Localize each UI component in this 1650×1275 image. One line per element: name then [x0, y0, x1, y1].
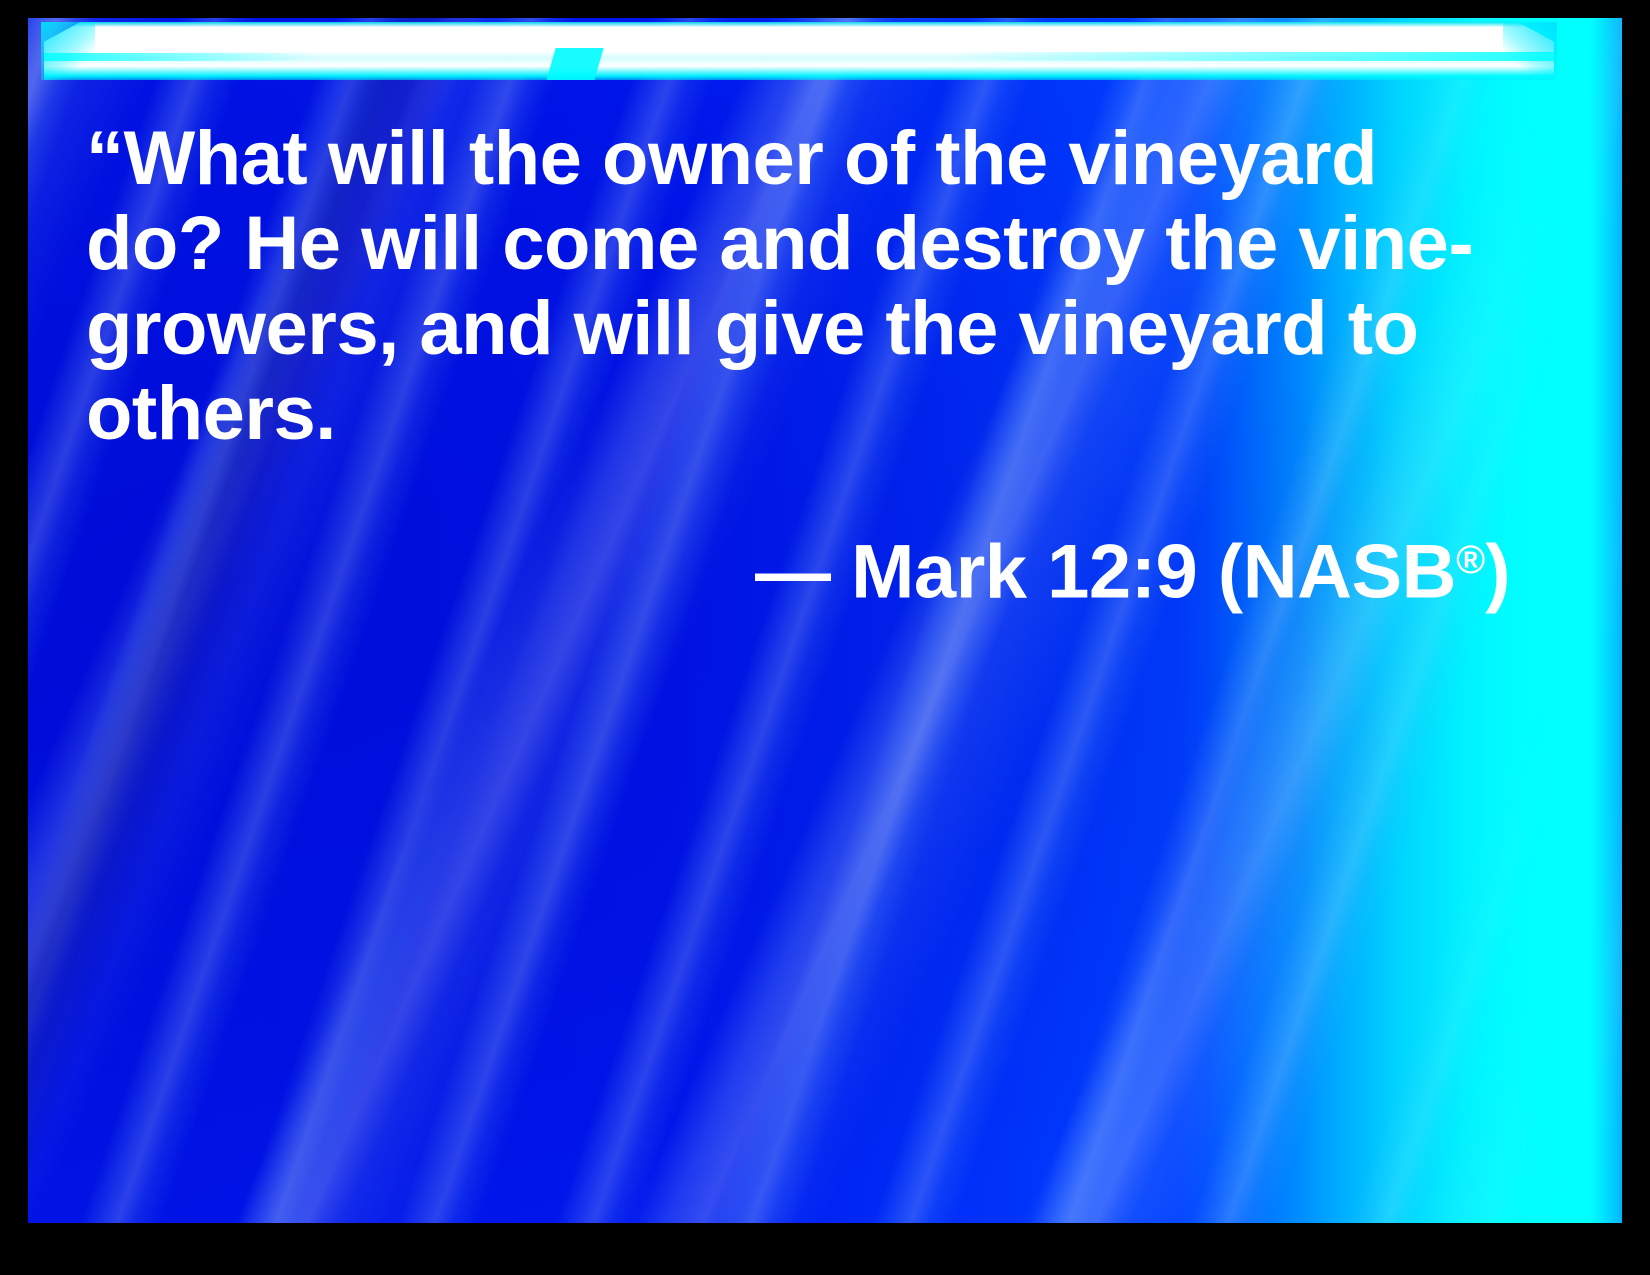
attribution-reference: Mark 12:9	[851, 530, 1197, 615]
attribution-dash: —	[755, 530, 831, 615]
verse-attribution: — Mark 12:9 (NASB®)	[86, 518, 1516, 615]
verse-body-text: “What will the owner of the vineyard do?…	[86, 116, 1516, 456]
attribution-translation-close: )	[1485, 530, 1510, 615]
registered-trademark-icon: ®	[1456, 538, 1485, 582]
presentation-slide: “What will the owner of the vineyard do?…	[0, 0, 1650, 1275]
verse-block: “What will the owner of the vineyard do?…	[86, 116, 1516, 615]
attribution-spacer	[831, 530, 852, 615]
attribution-translation: (NASB	[1218, 530, 1456, 615]
attribution-spacer-2	[1197, 530, 1218, 615]
